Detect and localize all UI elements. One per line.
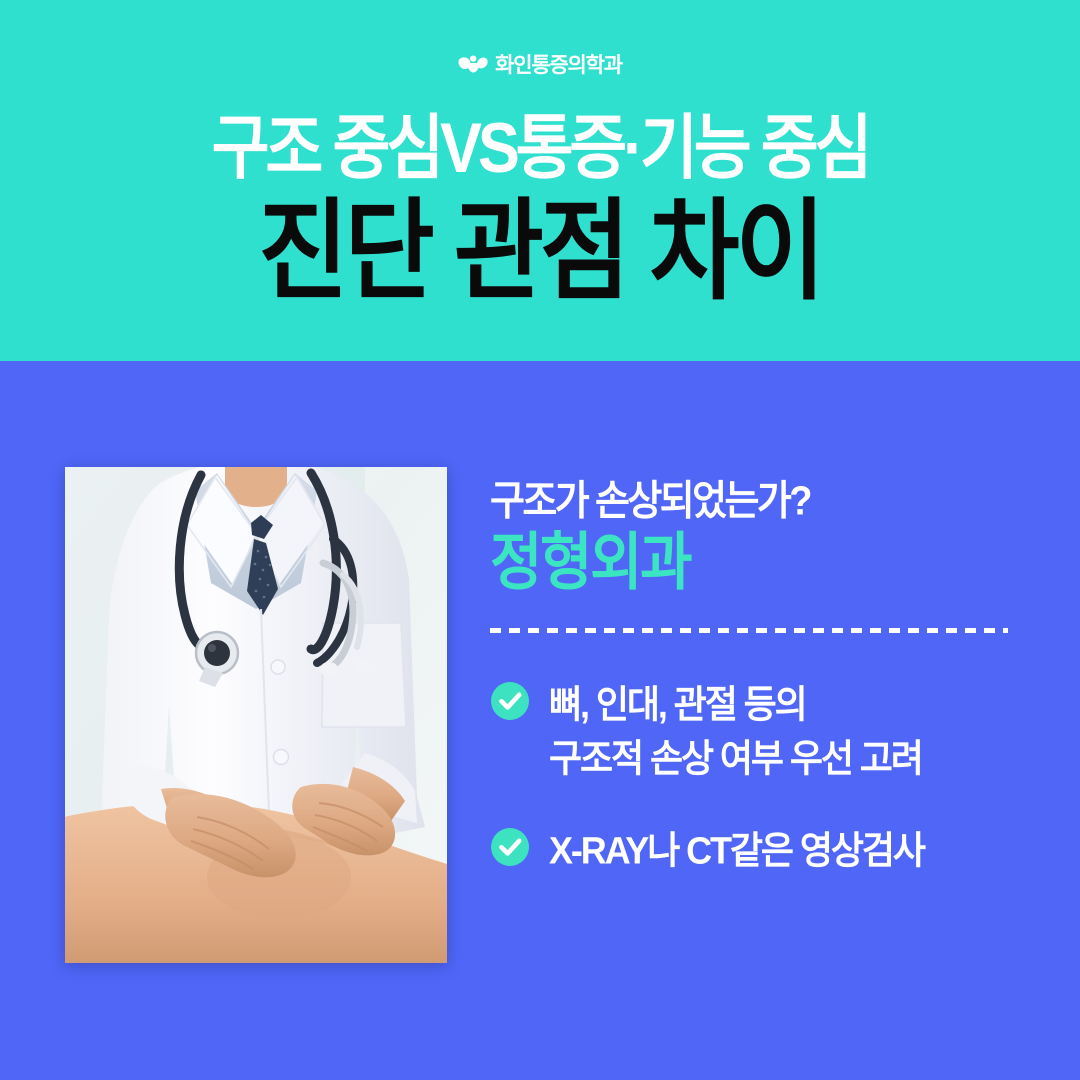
check-circle-icon: [490, 827, 530, 867]
promo-card: 화인통증의학과 구조 중심VS통증·기능 중심 진단 관점 차이: [0, 0, 1080, 1080]
brand-logo[interactable]: 화인통증의학과: [0, 48, 1080, 82]
list-item: X-RAY나 CT같은 영상검사: [490, 823, 1020, 874]
bullet-list: 뼈, 인대, 관절 등의 구조적 손상 여부 우선 고려 X-RAY나 CT같은…: [490, 677, 1020, 874]
dashed-divider: [490, 628, 1008, 633]
question-text: 구조가 손상되었는가?: [490, 480, 1020, 523]
page-title: 진단 관점 차이: [0, 196, 1080, 306]
department-title: 정형외과: [490, 532, 1020, 595]
doctor-knee-exam-photo: [65, 467, 447, 963]
photo-illustration: [65, 467, 447, 963]
check-circle-icon: [490, 681, 530, 721]
list-item-label: X-RAY나 CT같은 영상검사: [549, 823, 924, 877]
list-item: 뼈, 인대, 관절 등의 구조적 손상 여부 우선 고려: [490, 677, 1020, 779]
hero-title-line1: 구조 중심VS통증·기능 중심: [0, 114, 1080, 185]
brand-name: 화인통증의학과: [495, 55, 622, 76]
content-column: 구조가 손상되었는가? 정형외과 뼈, 인대, 관절 등의 구조적 손상 여부 …: [490, 480, 1020, 875]
list-item-label: 뼈, 인대, 관절 등의 구조적 손상 여부 우선 고려: [549, 677, 922, 785]
leaf-person-icon: [458, 53, 488, 77]
